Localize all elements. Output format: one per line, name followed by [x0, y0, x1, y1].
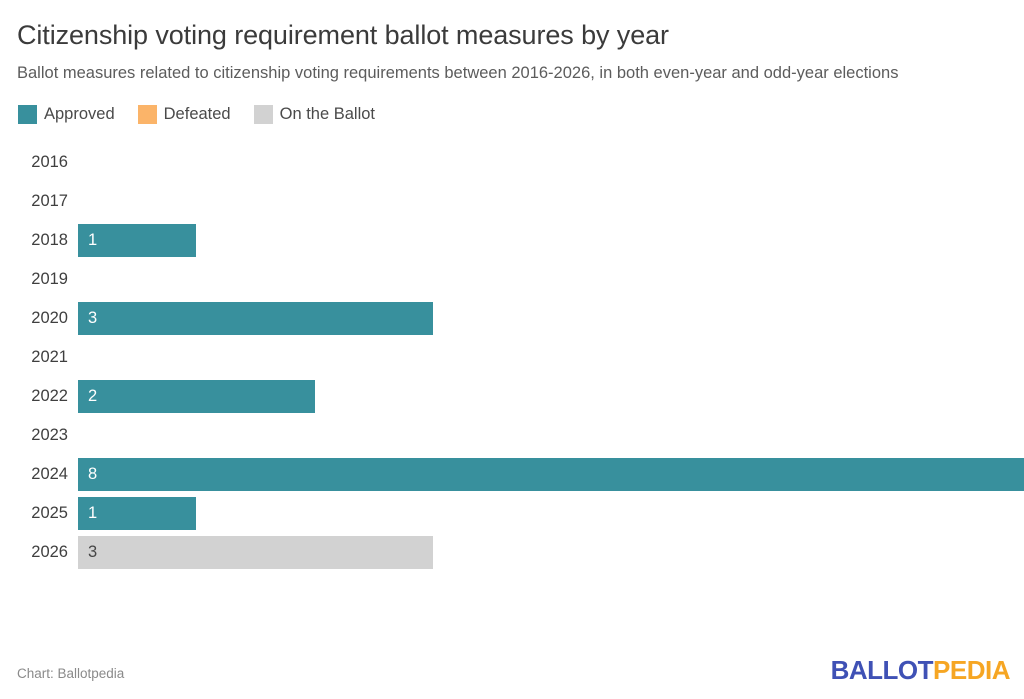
chart-row: 20203: [14, 299, 1010, 338]
legend-item[interactable]: Defeated: [138, 105, 231, 124]
bar[interactable]: 2: [78, 380, 315, 413]
bar-value-label: 1: [88, 224, 97, 257]
chart-row: 20251: [14, 494, 1010, 533]
bar[interactable]: 3: [78, 302, 433, 335]
logo-text-pedia: PEDIA: [933, 655, 1010, 685]
legend-swatch-icon: [18, 105, 37, 124]
bar[interactable]: 3: [78, 536, 433, 569]
y-axis-tick-label: 2025: [14, 494, 68, 533]
chart-row: 2017: [14, 182, 1010, 221]
chart-row: 20222: [14, 377, 1010, 416]
legend-label: Approved: [44, 105, 115, 124]
y-axis-tick-label: 2026: [14, 533, 68, 572]
bar-track: 3: [78, 299, 1010, 338]
logo-text-ballot: BALLOT: [831, 655, 933, 685]
y-axis-tick-label: 2021: [14, 338, 68, 377]
y-axis-tick-label: 2019: [14, 260, 68, 299]
bar-track: 8: [78, 455, 1010, 494]
chart-title: Citizenship voting requirement ballot me…: [17, 18, 1010, 52]
bar[interactable]: 8: [78, 458, 1024, 491]
bar-track: 2: [78, 377, 1010, 416]
bar-value-label: 3: [88, 536, 97, 569]
legend-item[interactable]: On the Ballot: [254, 105, 375, 124]
y-axis-tick-label: 2017: [14, 182, 68, 221]
bar-track: [78, 143, 1010, 182]
chart-row: 2016: [14, 143, 1010, 182]
bar-value-label: 8: [88, 458, 97, 491]
bar-track: [78, 182, 1010, 221]
y-axis-tick-label: 2024: [14, 455, 68, 494]
bar-value-label: 3: [88, 302, 97, 335]
legend-swatch-icon: [254, 105, 273, 124]
chart-row: 20248: [14, 455, 1010, 494]
chart-row: 2021: [14, 338, 1010, 377]
bar[interactable]: 1: [78, 224, 196, 257]
chart-footer: Chart: Ballotpedia BALLOTPEDIA: [14, 653, 1010, 683]
y-axis-tick-label: 2018: [14, 221, 68, 260]
chart-subtitle: Ballot measures related to citizenship v…: [17, 60, 1002, 86]
legend-item[interactable]: Approved: [18, 105, 115, 124]
legend-swatch-icon: [138, 105, 157, 124]
chart-credit: Chart: Ballotpedia: [17, 665, 124, 683]
bar[interactable]: 1: [78, 497, 196, 530]
chart-row: 2023: [14, 416, 1010, 455]
bar-track: 1: [78, 494, 1010, 533]
y-axis-tick-label: 2020: [14, 299, 68, 338]
bar-track: 1: [78, 221, 1010, 260]
bar-value-label: 1: [88, 497, 97, 530]
bar-track: [78, 260, 1010, 299]
chart-plot-area: 2016201720181201920203202120222202320248…: [14, 143, 1010, 563]
y-axis-tick-label: 2016: [14, 143, 68, 182]
chart-row: 20263: [14, 533, 1010, 572]
bar-value-label: 2: [88, 380, 97, 413]
ballotpedia-logo[interactable]: BALLOTPEDIA: [831, 657, 1010, 683]
bar-track: 3: [78, 533, 1010, 572]
bar-track: [78, 416, 1010, 455]
y-axis-tick-label: 2023: [14, 416, 68, 455]
y-axis-tick-label: 2022: [14, 377, 68, 416]
chart-container: Citizenship voting requirement ballot me…: [0, 0, 1024, 699]
legend-label: Defeated: [164, 105, 231, 124]
chart-row: 2019: [14, 260, 1010, 299]
chart-legend: ApprovedDefeatedOn the Ballot: [18, 103, 1010, 125]
bar-track: [78, 338, 1010, 377]
chart-row: 20181: [14, 221, 1010, 260]
legend-label: On the Ballot: [280, 105, 375, 124]
